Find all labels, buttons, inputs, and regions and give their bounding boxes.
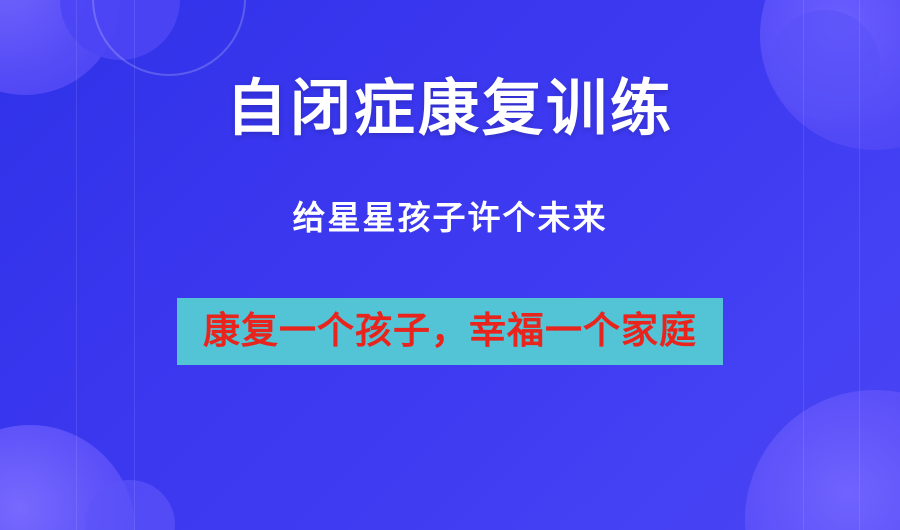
page-title: 自闭症康复训练	[226, 78, 674, 139]
poster-content: 自闭症康复训练 给星星孩子许个未来 康复一个孩子，幸福一个家庭	[0, 0, 900, 530]
slogan-banner: 康复一个孩子，幸福一个家庭	[177, 298, 723, 365]
page-subtitle: 给星星孩子许个未来	[293, 201, 608, 234]
poster-canvas: 自闭症康复训练 给星星孩子许个未来 康复一个孩子，幸福一个家庭	[0, 0, 900, 530]
slogan-text: 康复一个孩子，幸福一个家庭	[203, 312, 697, 349]
